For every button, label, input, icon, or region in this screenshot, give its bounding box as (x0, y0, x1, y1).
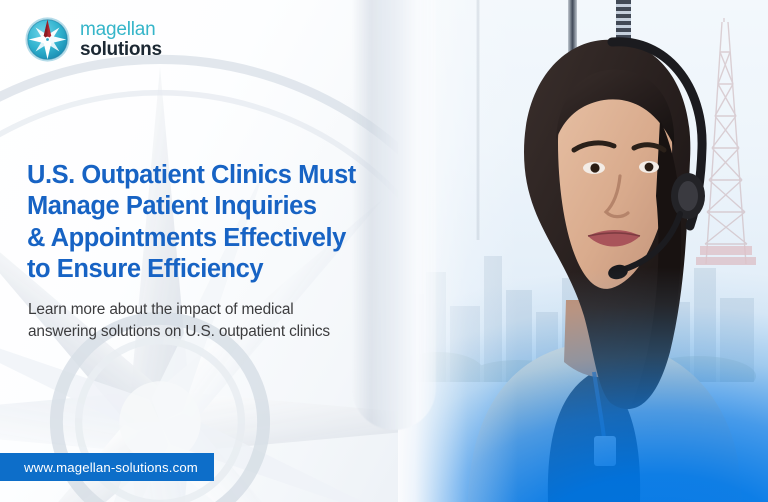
subheadline: Learn more about the impact of medical a… (28, 299, 448, 344)
subheadline-line-2: answering solutions on U.S. outpatient c… (28, 321, 448, 343)
brand-name-solutions: solutions (80, 40, 162, 59)
brand-logo[interactable]: magellan solutions (24, 16, 162, 63)
headline-line-1: U.S. Outpatient Clinics Must (27, 160, 457, 191)
headline-line-3: & Appointments Effectively (27, 223, 457, 254)
brand-wordmark: magellan solutions (80, 20, 162, 59)
compass-rose-icon (24, 16, 71, 63)
subheadline-line-1: Learn more about the impact of medical (28, 299, 448, 321)
headline-line-2: Manage Patient Inquiries (27, 191, 457, 222)
website-url-badge[interactable]: www.magellan-solutions.com (0, 453, 214, 481)
brand-name-magellan: magellan (80, 20, 162, 39)
marketing-banner: magellan solutions U.S. Outpatient Clini… (0, 0, 768, 502)
headline: U.S. Outpatient Clinics Must Manage Pati… (27, 160, 457, 286)
headline-line-4: to Ensure Efficiency (27, 254, 457, 285)
